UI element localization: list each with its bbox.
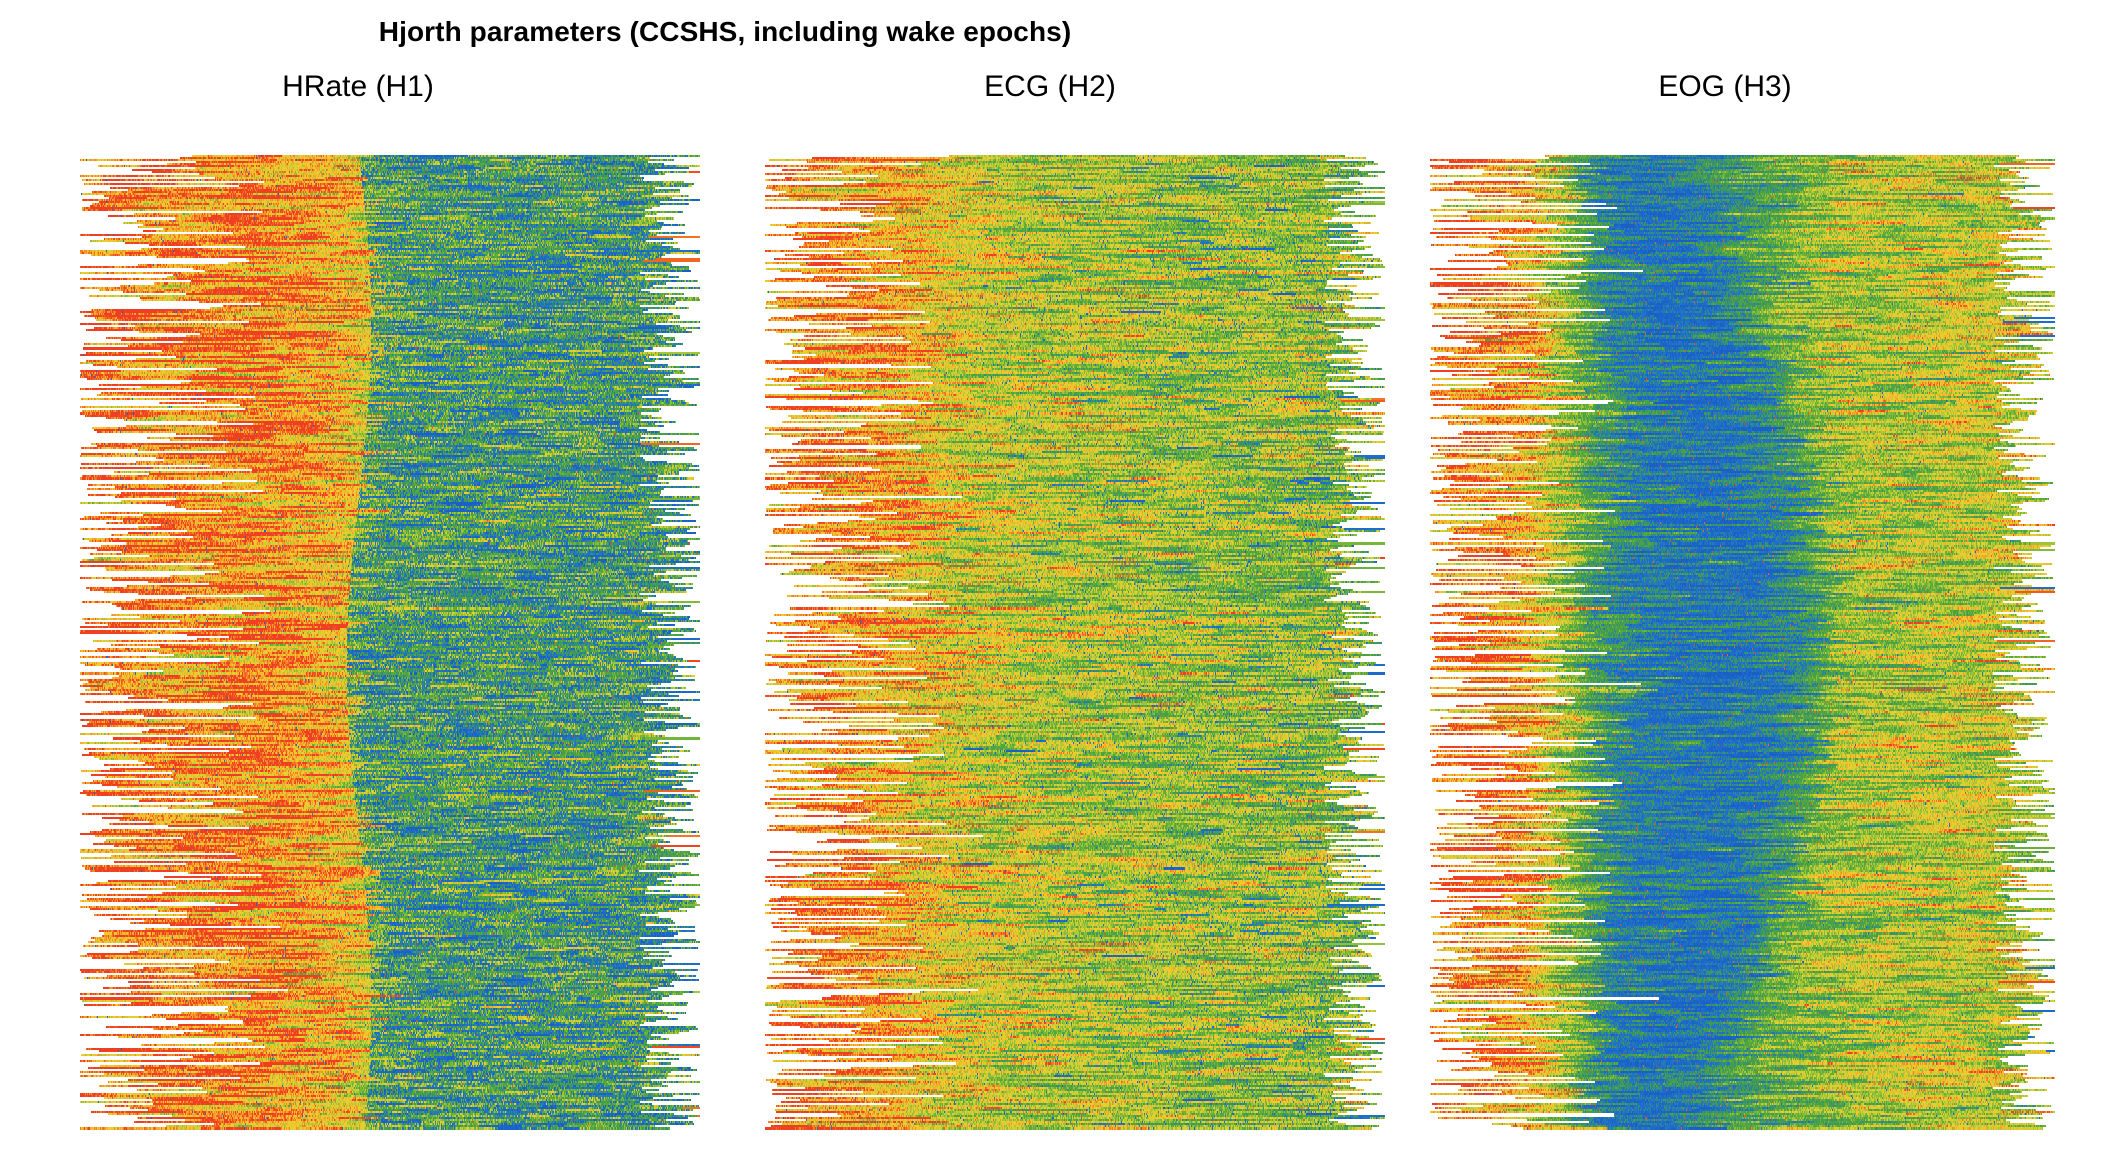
figure-suptitle: Hjorth parameters (CCSHS, including wake… <box>0 16 1450 48</box>
heatmap-raster-eog-h3 <box>1430 155 2055 1130</box>
panel-title-hrate-h1: HRate (H1) <box>8 70 708 104</box>
heatmap-axes-eog-h3 <box>1430 155 2055 1130</box>
heatmap-raster-ecg-h2 <box>765 155 1385 1130</box>
panel-title-ecg-h2: ECG (H2) <box>700 70 1400 104</box>
heatmap-axes-hrate-h1 <box>80 155 700 1130</box>
heatmap-raster-hrate-h1 <box>80 155 700 1130</box>
figure-canvas: Hjorth parameters (CCSHS, including wake… <box>0 0 2118 1162</box>
heatmap-axes-ecg-h2 <box>765 155 1385 1130</box>
panel-title-eog-h3: EOG (H3) <box>1375 70 2075 104</box>
